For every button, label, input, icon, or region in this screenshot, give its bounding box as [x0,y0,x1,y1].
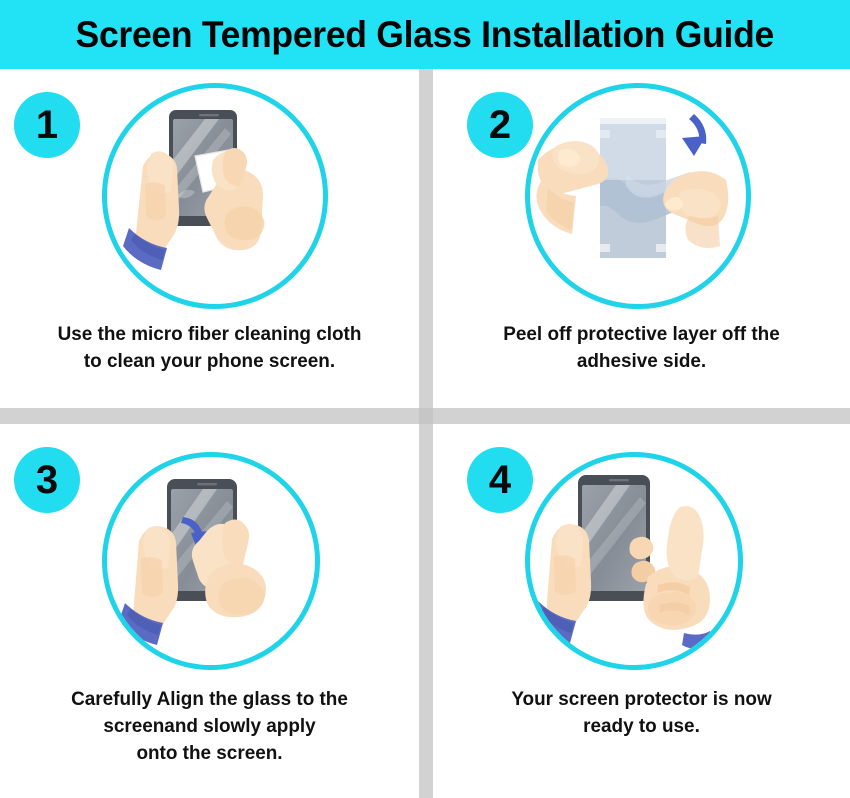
step-number-badge-4: 4 [467,447,533,513]
caption-line: onto the screen. [6,740,412,767]
divider-intersection [419,408,433,424]
page-title: Screen Tempered Glass Installation Guide [76,14,774,56]
step-illustration-ring-4 [525,452,743,670]
guide-page: Screen Tempered Glass Installation Guide… [0,0,850,798]
caption-line: adhesive side. [439,348,843,375]
step-number-badge-3: 3 [14,447,80,513]
illustration-peel-film [530,88,746,304]
step-caption-4: Your screen protector is now ready to us… [439,686,843,740]
caption-line: to clean your phone screen. [6,348,412,375]
caption-line: Use the micro fiber cleaning cloth [6,321,412,348]
illustration-ready-thumbs-up [530,457,738,665]
step-panel-4: 4 [433,424,850,798]
step-number-badge-2: 2 [467,92,533,158]
vertical-divider [419,69,433,798]
step-illustration-ring-1 [102,83,328,309]
step-caption-2: Peel off protective layer off the adhesi… [439,321,843,375]
illustration-clean-screen [107,88,323,304]
caption-line: ready to use. [439,713,843,740]
step-panel-3: 3 [0,424,419,798]
step-caption-3: Carefully Align the glass to the screena… [6,686,412,767]
illustration-align-glass [107,457,315,665]
caption-line: screenand slowly apply [6,713,412,740]
step-number-badge-1: 1 [14,92,80,158]
caption-line: Peel off protective layer off the [439,321,843,348]
step-panel-2: 2 [433,69,850,408]
step-illustration-ring-2 [525,83,751,309]
header-band: Screen Tempered Glass Installation Guide [0,0,850,69]
caption-line: Carefully Align the glass to the [6,686,412,713]
step-panel-1: 1 [0,69,419,408]
step-caption-1: Use the micro fiber cleaning cloth to cl… [6,321,412,375]
step-illustration-ring-3 [102,452,320,670]
caption-line: Your screen protector is now [439,686,843,713]
